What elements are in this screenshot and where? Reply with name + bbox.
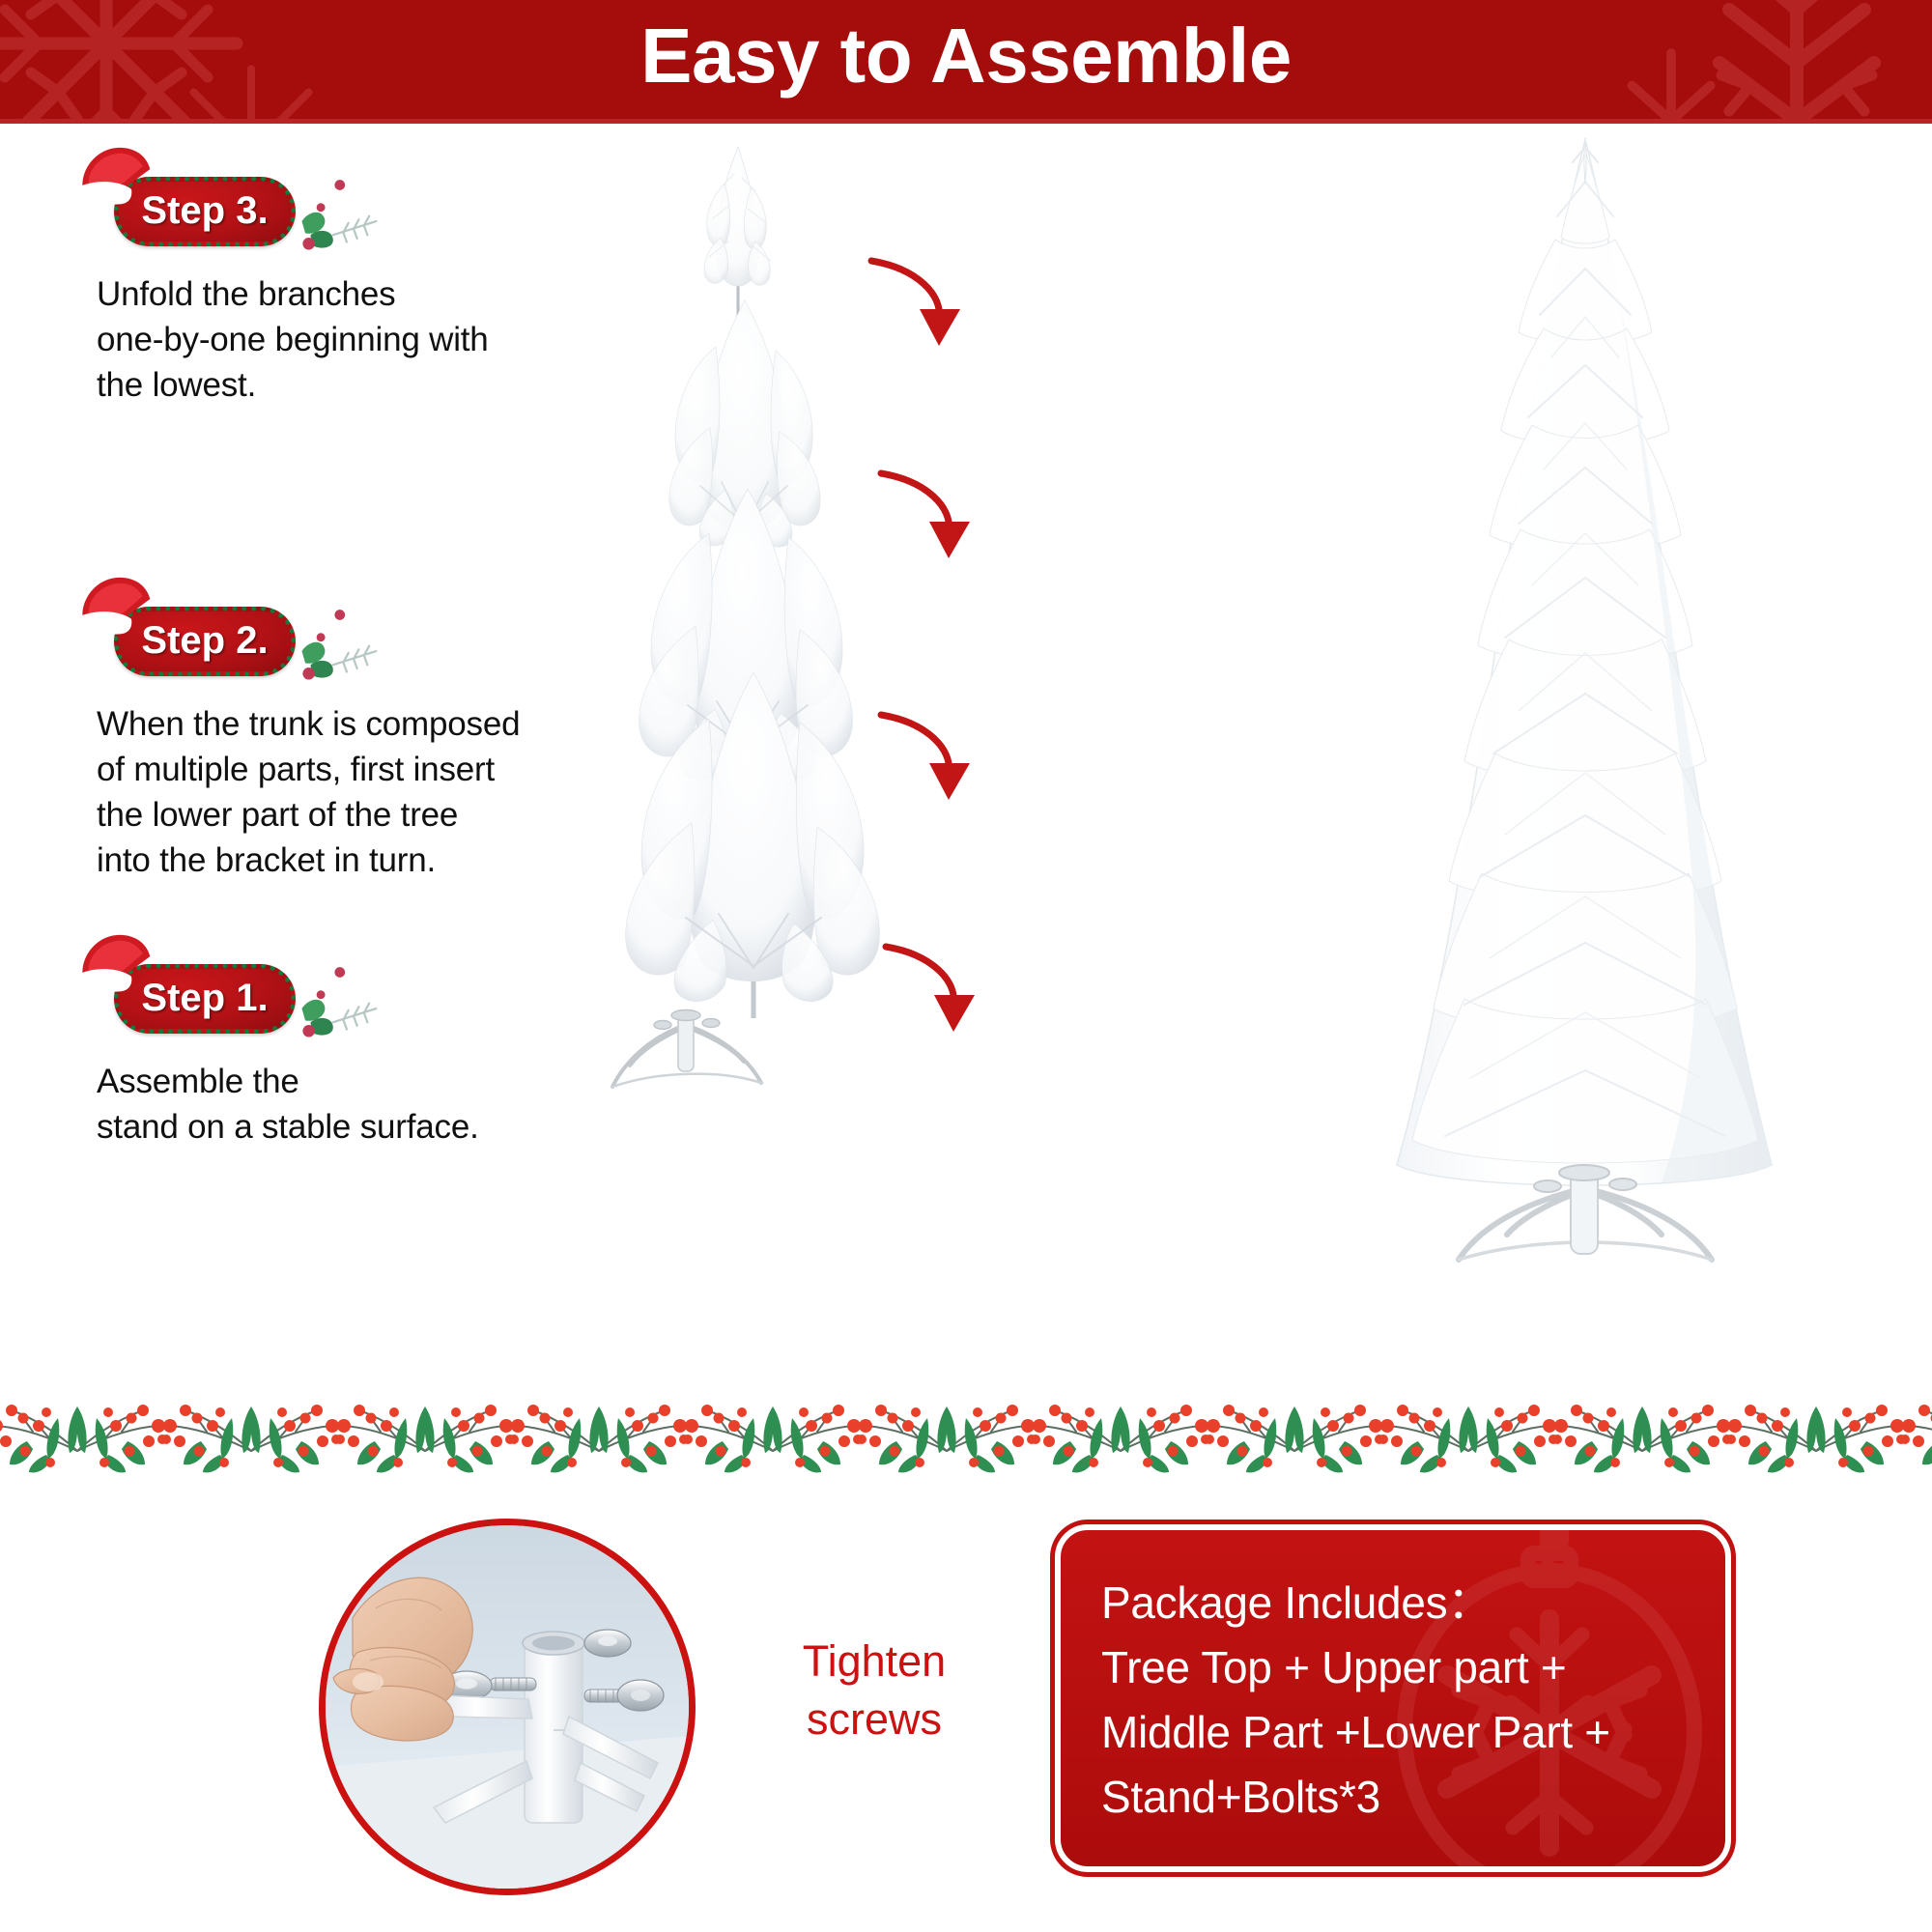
header-banner: Easy to Assemble <box>0 0 1932 124</box>
step-badge-3: Step 3. <box>97 167 386 264</box>
tighten-screw-photo <box>319 1519 696 1895</box>
hand-tightening-wing-screw-illustration <box>326 1525 689 1889</box>
steps-column: Step 3. Unfold the branches one-by-one b… <box>0 124 676 1370</box>
holly-berry-icon <box>295 603 382 684</box>
curved-down-arrow-icon <box>860 249 976 355</box>
curved-down-arrow-icon <box>874 935 990 1041</box>
package-includes-box: Package Includes： Tree Top + Upper part … <box>1055 1524 1731 1872</box>
holly-garland-divider <box>0 1383 1932 1476</box>
step-label-1: Step 1. <box>114 964 296 1034</box>
curved-down-arrow-icon <box>869 703 985 810</box>
assembled-christmas-tree-image <box>1265 124 1932 1370</box>
step-block-2: Step 2. When the trunk is composed of mu… <box>97 597 638 883</box>
metal-tree-stand-image <box>541 998 831 1104</box>
step-badge-1: Step 1. <box>97 954 386 1051</box>
holly-berry-icon <box>295 960 382 1041</box>
package-includes-text: Package Includes： Tree Top + Upper part … <box>1101 1571 1710 1830</box>
step-label-3: Step 3. <box>114 177 296 246</box>
parts-column <box>638 124 1043 1370</box>
step-description-2: When the trunk is composed of multiple p… <box>97 701 638 883</box>
curved-down-arrow-icon <box>869 462 985 568</box>
page-title: Easy to Assemble <box>0 0 1932 116</box>
step-label-2: Step 2. <box>114 607 296 676</box>
lower-branch-section-image <box>599 665 908 1022</box>
step-badge-2: Step 2. <box>97 597 386 694</box>
step-description-3: Unfold the branches one-by-one beginning… <box>97 271 638 408</box>
tighten-screws-label: Tighten screws <box>763 1633 985 1748</box>
step-block-3: Step 3. Unfold the branches one-by-one b… <box>97 167 638 408</box>
holly-berry-icon <box>295 173 382 254</box>
